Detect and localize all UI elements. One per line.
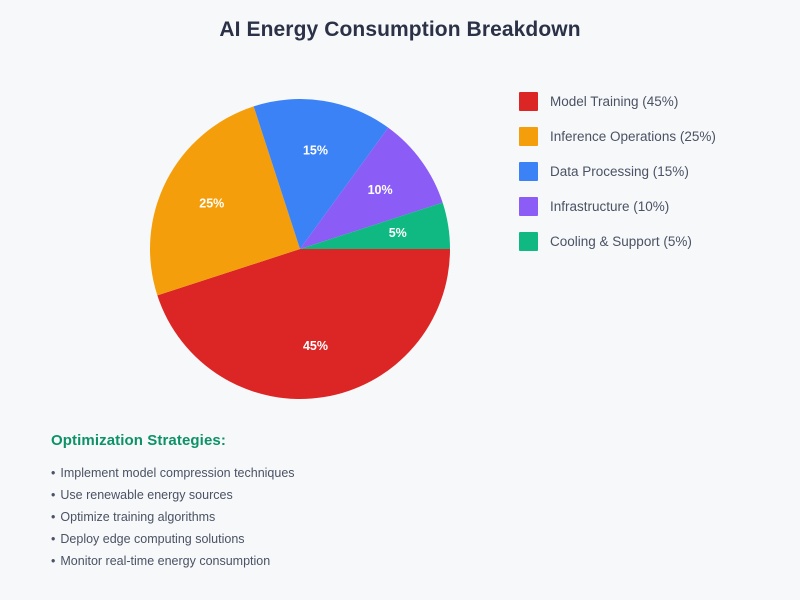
bullet-icon: • bbox=[51, 488, 55, 502]
legend-item[interactable]: Inference Operations (25%) bbox=[519, 119, 784, 154]
pie-svg: 45%25%15%10%5% bbox=[150, 99, 450, 399]
optimization-strategy-text: Implement model compression techniques bbox=[60, 466, 294, 480]
pie-slice-value-label: 10% bbox=[368, 183, 393, 197]
optimization-strategies-heading: Optimization Strategies: bbox=[51, 432, 481, 449]
optimization-strategy-item: •Monitor real-time energy consumption bbox=[51, 550, 481, 572]
optimization-strategy-item: •Use renewable energy sources bbox=[51, 484, 481, 506]
pie-slice-value-label: 25% bbox=[199, 196, 224, 210]
optimization-strategy-text: Optimize training algorithms bbox=[60, 510, 215, 524]
bullet-icon: • bbox=[51, 554, 55, 568]
bullet-icon: • bbox=[51, 466, 55, 480]
bullet-icon: • bbox=[51, 510, 55, 524]
legend-item[interactable]: Model Training (45%) bbox=[519, 84, 784, 119]
legend-item-label: Cooling & Support (5%) bbox=[550, 234, 692, 249]
pie-slice-group bbox=[150, 99, 450, 399]
optimization-strategy-text: Deploy edge computing solutions bbox=[60, 532, 244, 546]
pie-slice-value-label: 5% bbox=[389, 226, 407, 240]
pie-chart-area: 45%25%15%10%5% bbox=[150, 99, 450, 399]
pie-chart-figure: AI Energy Consumption Breakdown 45%25%15… bbox=[0, 0, 800, 600]
optimization-strategy-item: •Deploy edge computing solutions bbox=[51, 528, 481, 550]
chart-legend: Model Training (45%)Inference Operations… bbox=[519, 84, 784, 259]
legend-item[interactable]: Infrastructure (10%) bbox=[519, 189, 784, 224]
legend-item[interactable]: Data Processing (15%) bbox=[519, 154, 784, 189]
legend-color-swatch bbox=[519, 162, 538, 181]
legend-color-swatch bbox=[519, 92, 538, 111]
legend-item[interactable]: Cooling & Support (5%) bbox=[519, 224, 784, 259]
legend-item-label: Inference Operations (25%) bbox=[550, 129, 716, 144]
legend-color-swatch bbox=[519, 232, 538, 251]
pie-slice-value-label: 15% bbox=[303, 144, 328, 158]
bullet-icon: • bbox=[51, 532, 55, 546]
legend-item-label: Infrastructure (10%) bbox=[550, 199, 669, 214]
optimization-strategy-item: •Implement model compression techniques bbox=[51, 462, 481, 484]
optimization-strategy-text: Use renewable energy sources bbox=[60, 488, 232, 502]
optimization-strategy-item: •Optimize training algorithms bbox=[51, 506, 481, 528]
legend-color-swatch bbox=[519, 197, 538, 216]
chart-title: AI Energy Consumption Breakdown bbox=[0, 18, 800, 42]
optimization-strategies-panel: Optimization Strategies: •Implement mode… bbox=[51, 432, 481, 572]
legend-item-label: Model Training (45%) bbox=[550, 94, 678, 109]
legend-item-label: Data Processing (15%) bbox=[550, 164, 689, 179]
pie-slice-value-label: 45% bbox=[303, 339, 328, 353]
legend-color-swatch bbox=[519, 127, 538, 146]
optimization-strategies-list: •Implement model compression techniques•… bbox=[51, 462, 481, 572]
optimization-strategy-text: Monitor real-time energy consumption bbox=[60, 554, 270, 568]
